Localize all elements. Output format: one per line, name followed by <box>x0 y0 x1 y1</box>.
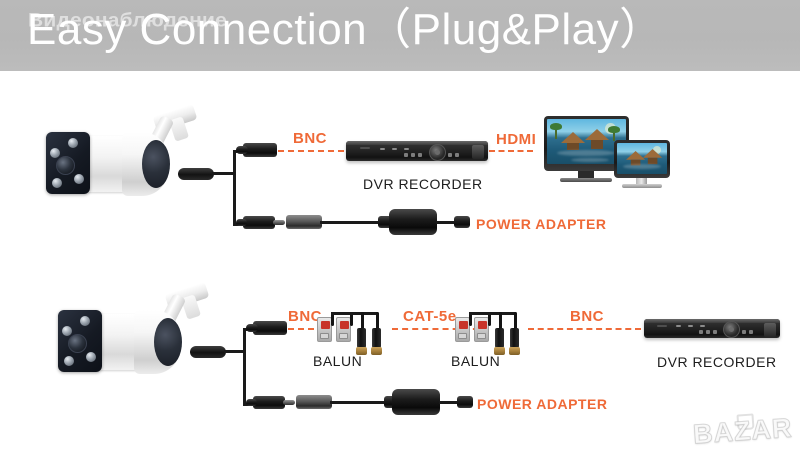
camera-ir-led <box>68 138 78 148</box>
camera-row1 <box>30 110 230 210</box>
camera-lens <box>56 156 75 175</box>
dvr-button[interactable] <box>749 330 753 334</box>
label-balun-left: BALUN <box>313 353 362 369</box>
screen-palm-leaves <box>550 123 562 130</box>
dvr-recorder-row1 <box>346 141 488 161</box>
balun-rj45-jack <box>477 333 486 339</box>
power-adapter-brick-row2 <box>392 389 440 415</box>
dvr-side-panel <box>472 145 484 159</box>
bnc-connector-neck <box>236 146 248 154</box>
screen-water-reflection <box>557 150 615 156</box>
header-bar: Видеонаблюдение Easy Connection（Plug&Pla… <box>0 0 800 71</box>
label-power-adapter-row2: POWER ADAPTER <box>477 396 607 412</box>
power-output-plug-row1 <box>454 216 470 228</box>
dvr-button[interactable] <box>448 153 452 157</box>
dvr-vent <box>657 325 667 327</box>
power-plug-neck-row2 <box>246 399 257 406</box>
power-output-plug-row2 <box>457 396 473 408</box>
power-adapter-brick-row1 <box>389 209 437 235</box>
power-plug-tip-row2 <box>283 400 295 405</box>
power-cable-row2 <box>330 401 392 404</box>
power-plug-tip-row1 <box>273 220 285 225</box>
dvr-indicator <box>676 325 681 327</box>
balun-label-strip <box>340 321 349 329</box>
balun-unit <box>474 317 489 342</box>
screen-water-reflection <box>623 164 661 169</box>
label-cat5e: CAT-5e <box>403 308 457 325</box>
camera-row2 <box>42 288 242 388</box>
pc-monitor <box>614 140 670 178</box>
dvr-recorder-row2 <box>644 319 780 338</box>
dvr-button[interactable] <box>742 330 746 334</box>
power-plug-male-row1 <box>286 215 322 229</box>
dvr-indicator <box>688 325 693 327</box>
tv-stand-base <box>560 178 612 182</box>
balun-pigtail-bend <box>350 312 378 315</box>
balun-label-strip <box>459 321 468 329</box>
dvr-indicator <box>380 148 385 150</box>
monitor-foot <box>622 184 662 188</box>
cable-splitter-trunk <box>243 328 246 406</box>
balun-rj45-jack <box>320 333 329 339</box>
balun-label-strip <box>321 321 330 329</box>
label-bnc-right: BNC <box>570 308 604 325</box>
dvr-vent <box>360 147 370 149</box>
balun-rj45-jack <box>458 333 467 339</box>
label-balun-right: BALUN <box>451 353 500 369</box>
power-plug-female-row1 <box>243 216 275 229</box>
screen-palm-leaves <box>608 126 620 133</box>
label-hdmi: HDMI <box>496 131 536 148</box>
bnc-link-line-right <box>528 328 641 330</box>
bnc-connector-row1 <box>243 143 277 157</box>
camera-ir-led <box>52 178 62 188</box>
dvr-button[interactable] <box>713 330 717 334</box>
camera-ir-led <box>64 356 74 366</box>
dvr-indicator <box>404 148 409 150</box>
dvr-button[interactable] <box>706 330 710 334</box>
dvr-button[interactable] <box>418 153 422 157</box>
camera-hood-opening <box>142 140 170 188</box>
camera-lens <box>68 334 87 353</box>
dvr-indicator <box>700 325 705 327</box>
dvr-button[interactable] <box>404 153 408 157</box>
camera-hood-opening <box>154 318 182 366</box>
dvr-button[interactable] <box>699 330 703 334</box>
dvr-button[interactable] <box>411 153 415 157</box>
pc-monitor-screen <box>617 143 667 174</box>
diagram-page: Видеонаблюдение Easy Connection（Plug&Pla… <box>0 0 800 457</box>
balun-unit <box>317 317 332 342</box>
camera-pigtail-plug <box>190 346 226 358</box>
dvr-side-panel <box>764 323 776 337</box>
balun-unit <box>455 317 470 342</box>
bazar-watermark: BAZAR <box>692 413 793 451</box>
dvr-top-edge <box>346 141 488 145</box>
dvr-button[interactable] <box>455 153 459 157</box>
cable-splitter-trunk <box>233 150 236 226</box>
camera-ir-led <box>80 316 90 326</box>
balun-label-strip <box>478 321 487 329</box>
power-plug-female-row2 <box>253 396 285 409</box>
label-power-adapter-row1: POWER ADAPTER <box>476 216 606 232</box>
dvr-nav-dial[interactable] <box>723 321 740 338</box>
balun-bnc-ring <box>509 347 520 355</box>
power-plug-male-row2 <box>296 395 332 409</box>
balun-rj45-jack <box>339 333 348 339</box>
camera-ir-led <box>62 326 72 336</box>
screen-water-reflection <box>571 158 609 162</box>
balun-unit <box>336 317 351 342</box>
hdmi-link-line <box>489 150 533 152</box>
balun-pigtail-bend <box>488 312 516 315</box>
camera-pigtail-plug <box>178 168 214 180</box>
power-plug-neck-row1 <box>236 219 247 226</box>
bnc-link-line-row1 <box>278 150 344 152</box>
dvr-indicator <box>392 148 397 150</box>
label-bnc-row1: BNC <box>293 130 327 147</box>
bnc-connector-row2 <box>253 321 287 335</box>
label-dvr-row1: DVR RECORDER <box>363 176 483 192</box>
camera-ir-led <box>86 352 96 362</box>
page-title: Easy Connection（Plug&Play） <box>27 0 664 62</box>
dvr-top-edge <box>644 319 780 323</box>
camera-ir-led <box>74 174 84 184</box>
balun-bnc-ring <box>371 347 382 355</box>
camera-ir-led <box>50 148 60 158</box>
bnc-link-line-left <box>288 328 314 330</box>
dvr-nav-dial[interactable] <box>429 144 446 161</box>
bnc-connector-neck <box>246 324 258 332</box>
label-dvr-row2: DVR RECORDER <box>657 354 777 370</box>
power-cable-row1 <box>320 221 386 224</box>
